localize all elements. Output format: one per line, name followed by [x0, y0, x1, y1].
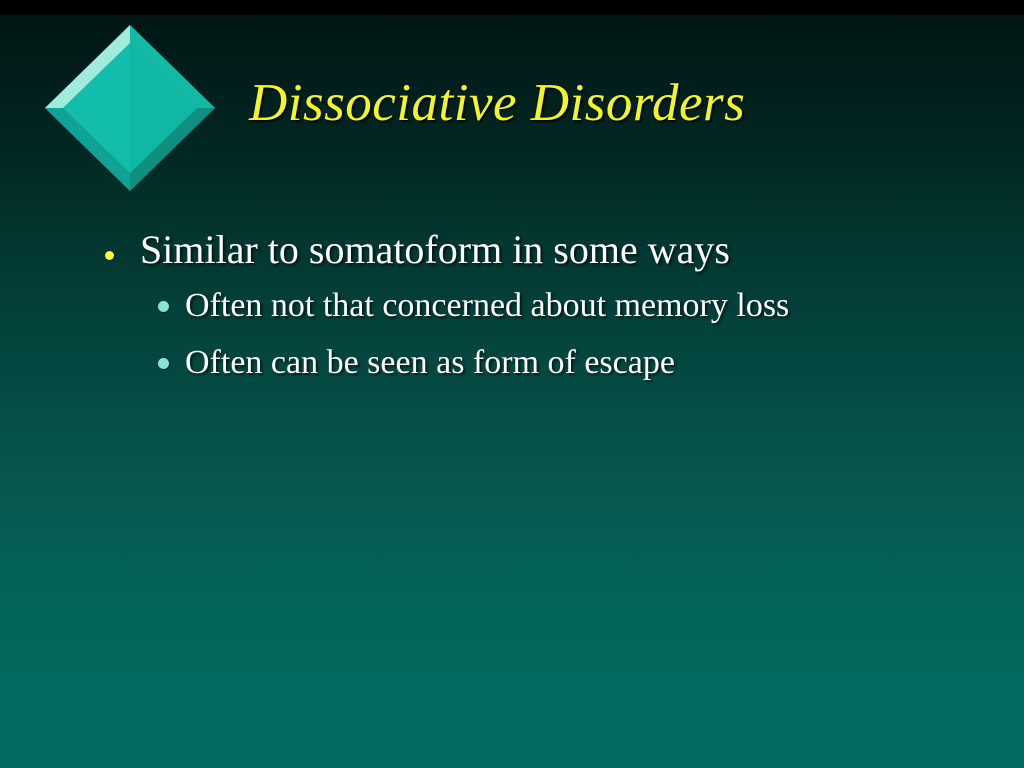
bullet-level2-text: Often can be seen as form of escape: [185, 344, 675, 381]
bullet-level2-text: Often not that concerned about memory lo…: [185, 287, 789, 324]
bullet-level1-text: Similar to somatoform in some ways: [140, 227, 730, 272]
bullet-level2: Often not that concerned about memory lo…: [0, 282, 1024, 331]
diamond-logo: [45, 25, 215, 191]
bullet-dot-level1-icon: [105, 251, 114, 260]
slide-top-black-band: [0, 0, 1024, 15]
presentation-slide: Dissociative Disorders Similar to somato…: [0, 0, 1024, 768]
bullet-level1: Similar to somatoform in some ways: [0, 228, 1024, 273]
slide-title: Dissociative Disorders: [249, 76, 949, 132]
slide-body: Similar to somatoform in some ways Often…: [0, 228, 1024, 388]
bullet-dot-level2-icon: [158, 301, 169, 312]
bullet-dot-level2-icon: [158, 358, 169, 369]
bullet-level2: Often can be seen as form of escape: [0, 339, 1024, 388]
